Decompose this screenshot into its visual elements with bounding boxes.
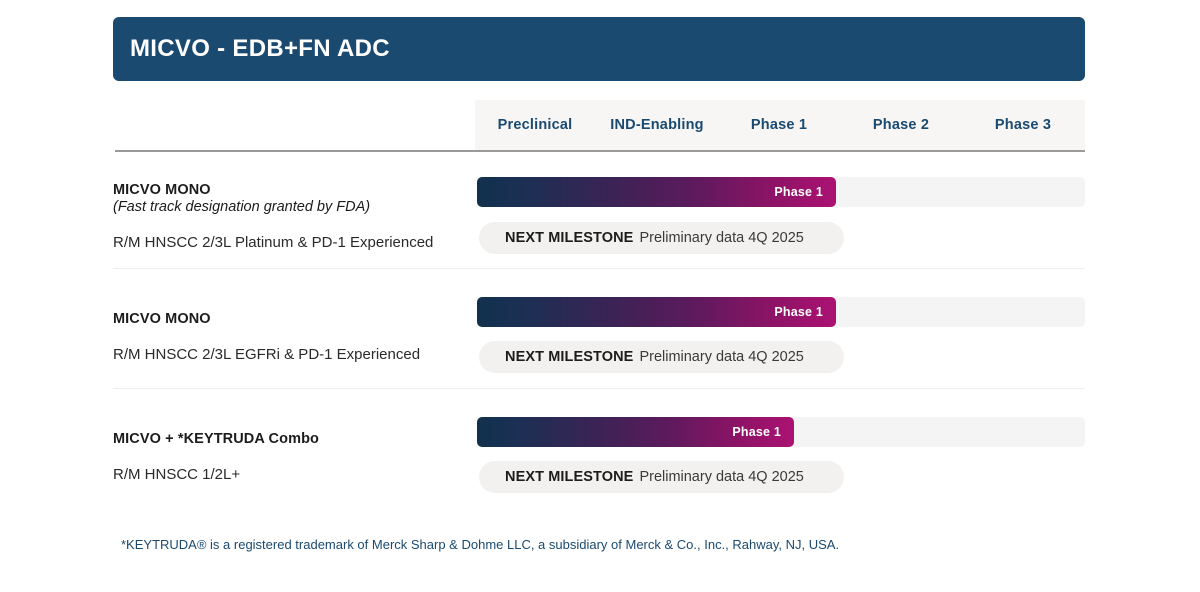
program-indication: R/M HNSCC 1/2L+	[113, 466, 468, 483]
program-name: MICVO MONO	[113, 311, 468, 327]
next-milestone-text: Preliminary data 4Q 2025	[639, 230, 803, 246]
program-note: (Fast track designation granted by FDA)	[113, 199, 468, 215]
next-milestone-label: NEXT MILESTONE	[505, 230, 633, 246]
next-milestone-pill: NEXT MILESTONE Preliminary data 4Q 2025	[479, 222, 844, 254]
phase-progress-fill[interactable]: Phase 1	[477, 297, 836, 327]
next-milestone-pill: NEXT MILESTONE Preliminary data 4Q 2025	[479, 461, 844, 493]
next-milestone-label: NEXT MILESTONE	[505, 469, 633, 485]
program-banner: MICVO - EDB+FN ADC	[113, 17, 1085, 81]
phase-progress-label: Phase 1	[774, 185, 836, 199]
phase-header-row: Preclinical IND-Enabling Phase 1 Phase 2…	[115, 100, 1085, 150]
row-divider	[113, 388, 1085, 389]
phase-progress-label: Phase 1	[732, 425, 794, 439]
pipeline-chart: MICVO - EDB+FN ADC Preclinical IND-Enabl…	[0, 0, 1200, 592]
phase-progress-label: Phase 1	[774, 305, 836, 319]
program-indication: R/M HNSCC 2/3L EGFRi & PD-1 Experienced	[113, 346, 468, 363]
program-indication: R/M HNSCC 2/3L Platinum & PD-1 Experienc…	[113, 234, 468, 251]
row-divider	[113, 268, 1085, 269]
program-name: MICVO MONO	[113, 182, 468, 198]
program-label-block: MICVO MONO (Fast track designation grant…	[113, 182, 468, 251]
column-header-phase-1: Phase 1	[709, 100, 849, 150]
next-milestone-text: Preliminary data 4Q 2025	[639, 349, 803, 365]
column-header-phase-2: Phase 2	[831, 100, 971, 150]
next-milestone-label: NEXT MILESTONE	[505, 349, 633, 365]
page-title: MICVO - EDB+FN ADC	[113, 35, 390, 63]
column-header-ind-enabling: IND-Enabling	[587, 100, 727, 150]
phase-progress-track[interactable]: Phase 1	[477, 177, 1085, 207]
phase-progress-track[interactable]: Phase 1	[477, 417, 1085, 447]
next-milestone-text: Preliminary data 4Q 2025	[639, 469, 803, 485]
trademark-footnote: *KEYTRUDA® is a registered trademark of …	[121, 537, 839, 552]
phase-progress-track[interactable]: Phase 1	[477, 297, 1085, 327]
column-header-phase-3: Phase 3	[953, 100, 1093, 150]
column-header-preclinical: Preclinical	[465, 100, 605, 150]
phase-progress-fill[interactable]: Phase 1	[477, 417, 794, 447]
next-milestone-pill: NEXT MILESTONE Preliminary data 4Q 2025	[479, 341, 844, 373]
program-name: MICVO + *KEYTRUDA Combo	[113, 431, 468, 447]
program-label-block: MICVO + *KEYTRUDA Combo R/M HNSCC 1/2L+	[113, 431, 468, 483]
phase-progress-fill[interactable]: Phase 1	[477, 177, 836, 207]
header-divider	[115, 150, 1085, 152]
program-label-block: MICVO MONO R/M HNSCC 2/3L EGFRi & PD-1 E…	[113, 311, 468, 363]
